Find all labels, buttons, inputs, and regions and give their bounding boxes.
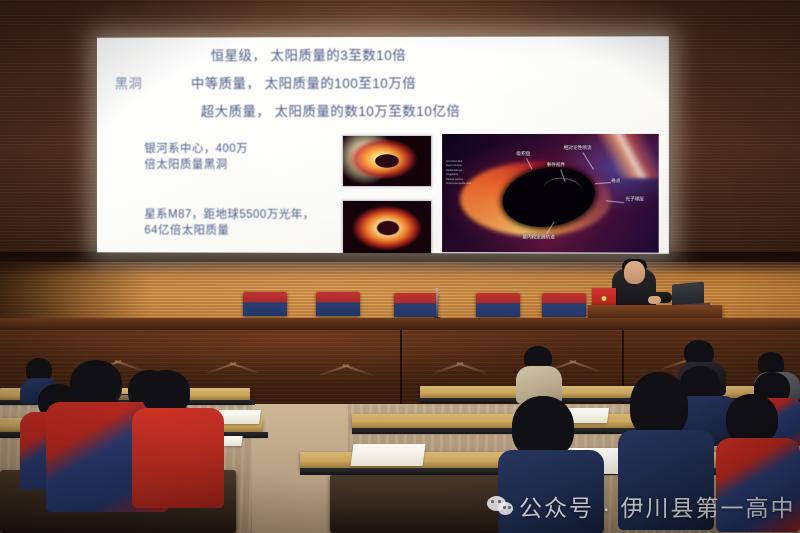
black-hole-anatomy-diagram: Accretion disk Event horizon Relativisti… xyxy=(442,134,659,253)
eht-image-sagittarius-a-star xyxy=(342,135,432,187)
podium-chevron-4 xyxy=(432,354,488,370)
slide-line-3: 超大质量， 太阳质量的数10万至数10亿倍 xyxy=(201,100,461,120)
slide-caption-sgr-a: 银河系中心，400万 倍太阳质量黑洞 xyxy=(144,141,248,173)
lecture-hall-photo: 黑洞 恒星级， 太阳质量的3至数10倍 中等质量， 太阳质量的100至10万倍 … xyxy=(0,0,800,533)
wechat-icon xyxy=(487,495,513,517)
diagram-side-text: Accretion disk Event horizon Relativisti… xyxy=(446,160,510,187)
paper-sheet-4 xyxy=(350,444,425,466)
slide-caption-m87: 星系M87，距地球5500万光年， 64亿倍太阳质量 xyxy=(144,207,314,239)
watermark-text: 公众号 · 伊川县第一高中 xyxy=(519,489,795,523)
gooseneck-microphone xyxy=(436,288,438,318)
slide-line-2-text: 中等质量， 太阳质量的100至10万倍 xyxy=(191,76,416,91)
projection-screen: 黑洞 恒星级， 太阳质量的3至数10倍 中等质量， 太阳质量的100至10万倍 … xyxy=(97,36,669,253)
podium-seam-1 xyxy=(400,330,402,404)
slide-line-1: 恒星级， 太阳质量的3至数10倍 xyxy=(211,44,407,64)
diagram-label-photon-sphere: 光子球层 xyxy=(625,196,647,201)
slide-line-3-text: 超大质量， 太阳质量的数10万至数10亿倍 xyxy=(201,104,461,119)
diagram-label-isco: 最内稳定圆轨道 xyxy=(522,234,554,240)
diagram-label-relativistic-jet: 相对论性喷流 xyxy=(564,145,592,151)
stage-chair-1 xyxy=(243,292,287,316)
presenter-hand xyxy=(648,296,661,304)
stage-chair-2 xyxy=(316,292,360,316)
podium-chevron-3 xyxy=(318,356,374,372)
diagram-label-event-horizon: 事件视界 xyxy=(547,162,566,168)
presenter-head xyxy=(624,261,645,284)
podium-chevron-5 xyxy=(545,352,601,368)
watermark: 公众号 · 伊川县第一高中 xyxy=(487,489,795,523)
diagram-label-accretion-disk: 吸积盘 xyxy=(516,151,530,157)
stage-chair-5 xyxy=(542,293,586,317)
stage-chair-4 xyxy=(476,293,520,317)
slide-line-1-text: 恒星级， 太阳质量的3至数10倍 xyxy=(211,48,407,63)
diagram-label-singularity: 奇点 xyxy=(611,178,620,184)
slide-line-2: 中等质量， 太阳质量的100至10万倍 xyxy=(191,72,416,92)
slide-side-label: 黑洞 xyxy=(115,72,143,92)
stage-chair-3 xyxy=(394,293,438,317)
eht-image-m87 xyxy=(342,200,432,254)
podium-chevron-2 xyxy=(205,354,261,370)
student-glasses xyxy=(116,394,131,401)
